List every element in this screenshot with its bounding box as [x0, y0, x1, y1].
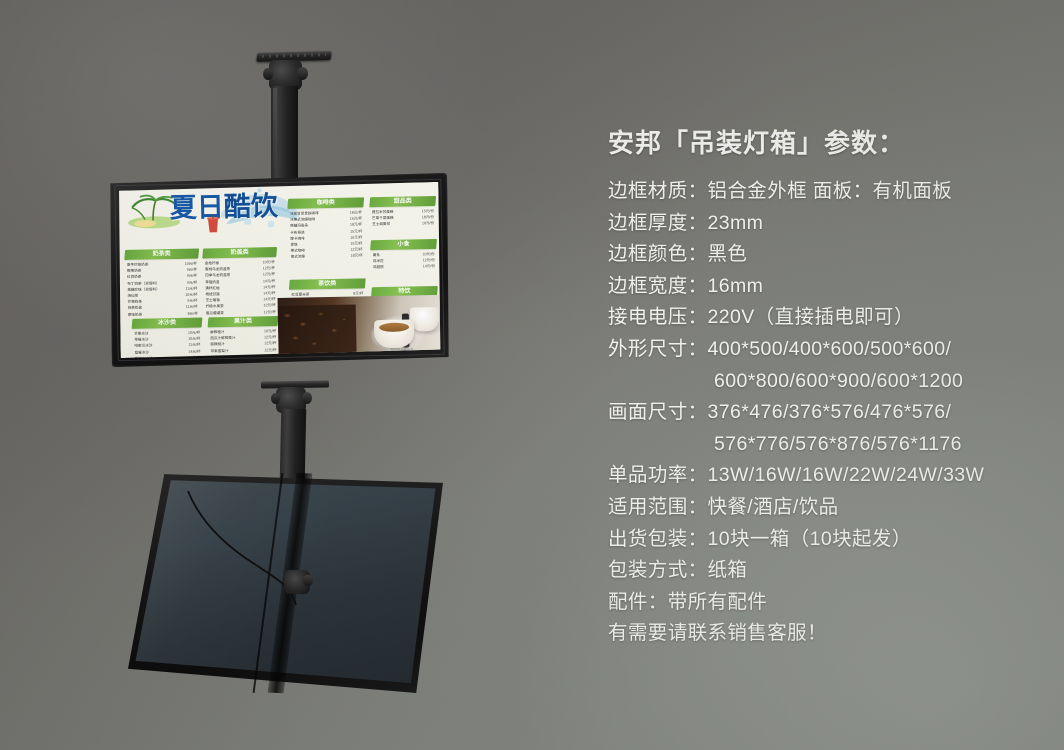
spec-packing-method: 包装方式：纸箱 — [608, 555, 1048, 587]
menu-items: 鲜榨橙汁10元/杯 西瓜汁鲜榨果汁12元/杯 猕猴桃汁12元/杯 苹果雪梨汁12… — [208, 328, 279, 358]
menu-items: 金桔柠檬10元/杯 蜜桃乌龙奶盖茶12元/杯 四季乌龙奶盖茶12元/杯 草莓奶盖… — [203, 259, 278, 316]
spec-frame-color: 边框颜色：黑色 — [608, 239, 1048, 271]
upper-pole-highlight — [273, 88, 277, 180]
menu-column-left-2: 奶盖类 金桔柠檬10元/杯 蜜桃乌龙奶盖茶12元/杯 四季乌龙奶盖茶12元/杯 … — [203, 247, 278, 316]
menu-title-line2: 酷饮 — [223, 191, 278, 222]
coffee-photo: 咖啡豆与咖啡杯 — [278, 295, 442, 355]
spec-accessories: 配件：带所有配件 — [608, 587, 1048, 619]
menu-items: 薯条10元/份 鸡米花12元/份 鸡翅根14元/份 — [371, 251, 437, 271]
menu-item-row: 芝士焗蛋挞10元/份 — [370, 220, 436, 227]
menu-section-header: 甜品类 — [369, 196, 436, 207]
spec-application: 适用范围：快餐/酒店/饮品 — [608, 492, 1048, 524]
coffee-cup-large — [374, 319, 415, 348]
upper-joint-knob-right — [297, 67, 308, 80]
product-photo: 夏日酷饮 奶茶类 香芋珍珠奶茶10元/杯 椰果奶茶9元/杯 红豆奶茶9元/杯 布… — [0, 0, 575, 750]
menu-section-header: 咖啡类 — [287, 197, 364, 208]
menu-column-right-3: 小食 薯条10元/份 鸡米花12元/份 鸡翅根14元/份 — [370, 239, 437, 271]
lit-light-box: 夏日酷饮 奶茶类 香芋珍珠奶茶10元/杯 椰果奶茶9元/杯 红豆奶茶9元/杯 布… — [108, 173, 451, 367]
screenshot-stage: 夏日酷饮 奶茶类 香芋珍珠奶茶10元/杯 椰果奶茶9元/杯 红豆奶茶9元/杯 布… — [0, 0, 1064, 750]
menu-section-header: 奶盖类 — [202, 247, 277, 258]
menu-items: 提拉米苏蛋糕15元/份 芒果千层蛋糕18元/份 芝士焗蛋挞10元/份 — [370, 208, 436, 228]
menu-section-header: 茶饮类 — [289, 278, 366, 289]
spec-panel: 安邦「吊装灯箱」参数： 边框材质：铝合金外框 面板：有机面板 边框厚度：23mm… — [608, 124, 1048, 650]
menu-item-row: 原味奶茶8元/杯 — [126, 310, 200, 318]
spec-frame-width: 边框宽度：16mm — [608, 271, 1048, 303]
coffee-beans-image — [278, 305, 357, 355]
menu-section-header: 果汁类 — [208, 316, 279, 327]
menu-column-left-4: 果汁类 鲜榨橙汁10元/杯 西瓜汁鲜榨果汁12元/杯 猕猴桃汁12元/杯 苹果雪… — [208, 316, 279, 358]
menu-column-left-3: 冰沙类 芒果冰沙10元/杯 草莓冰沙10元/杯 哈密瓜冰沙11元/杯 蓝莓冰沙1… — [132, 317, 203, 358]
menu-items: 香芋珍珠奶茶10元/杯 椰果奶茶9元/杯 红豆奶茶9元/杯 布丁奶茶（双倍料）9… — [125, 261, 200, 318]
menu-item-row: 蜜瓜爆爆茶12元/杯 — [204, 309, 278, 317]
upper-joint-knob-left — [263, 68, 273, 80]
spec-shipping-package: 出货包装：10块一箱（10块起发） — [608, 524, 1048, 556]
menu-column-left-1: 奶茶类 香芋珍珠奶茶10元/杯 椰果奶茶9元/杯 红豆奶茶9元/杯 布丁奶茶（双… — [125, 249, 200, 318]
middle-joint-knob-right — [302, 392, 312, 404]
spec-picture-size-line1: 画面尺寸：376*476/376*576/476*576/ — [608, 397, 1048, 429]
menu-section-header: 冰沙类 — [132, 317, 203, 328]
spec-picture-size-line2: 576*776/576*876/576*1176 — [608, 429, 1048, 461]
spec-voltage: 接电电压：220V（直接插电即可） — [608, 302, 1048, 334]
menu-title: 夏日酷饮 — [170, 193, 278, 222]
lower-joint-knob — [303, 575, 313, 586]
spec-outer-size-line1: 外形尺寸：400*500/400*600/500*600/ — [608, 334, 1048, 366]
menu-item-row: 意式浓缩18元/杯 — [289, 253, 365, 261]
menu-column-right-2: 甜品类 提拉米苏蛋糕15元/份 芒果千层蛋糕18元/份 芝士焗蛋挞10元/份 — [370, 196, 437, 228]
menu-items: 冰摇甘苦拿铁咖啡18元/杯 冰美式浓缩咖啡16元/杯 焦糖玛奇朵18元/杯 卡布… — [288, 209, 365, 260]
menu-section-header: 奶茶类 — [124, 249, 199, 260]
spec-outer-size-line2: 600*800/600*900/600*1200 — [608, 366, 1048, 398]
menu-section-header: 小食 — [370, 239, 437, 250]
spec-contact: 有需要请联系销售客服！ — [608, 618, 1048, 650]
menu-item-row: 鸡翅根14元/份 — [371, 263, 437, 270]
menu-hero: 夏日酷饮 — [117, 185, 303, 249]
coffee-cup-small — [410, 307, 439, 332]
menu-items: 芒果冰沙10元/杯 草莓冰沙10元/杯 哈密瓜冰沙11元/杯 蓝莓冰沙14元/杯… — [132, 329, 203, 358]
spec-frame-thickness: 边框厚度：23mm — [608, 208, 1048, 240]
spec-power: 单品功率：13W/16W/16W/22W/24W/33W — [608, 460, 1048, 492]
menu-panel: 夏日酷饮 奶茶类 香芋珍珠奶茶10元/杯 椰果奶茶9元/杯 红豆奶茶9元/杯 布… — [117, 182, 441, 358]
drink-cup-icon — [206, 215, 220, 233]
middle-joint-knob-left — [271, 393, 280, 404]
spec-title: 安邦「吊装灯箱」参数： — [608, 124, 1048, 162]
spec-frame-material: 边框材质：铝合金外框 面板：有机面板 — [608, 176, 1048, 208]
menu-column-right-1: 咖啡类 冰摇甘苦拿铁咖啡18元/杯 冰美式浓缩咖啡16元/杯 焦糖玛奇朵18元/… — [288, 197, 365, 260]
